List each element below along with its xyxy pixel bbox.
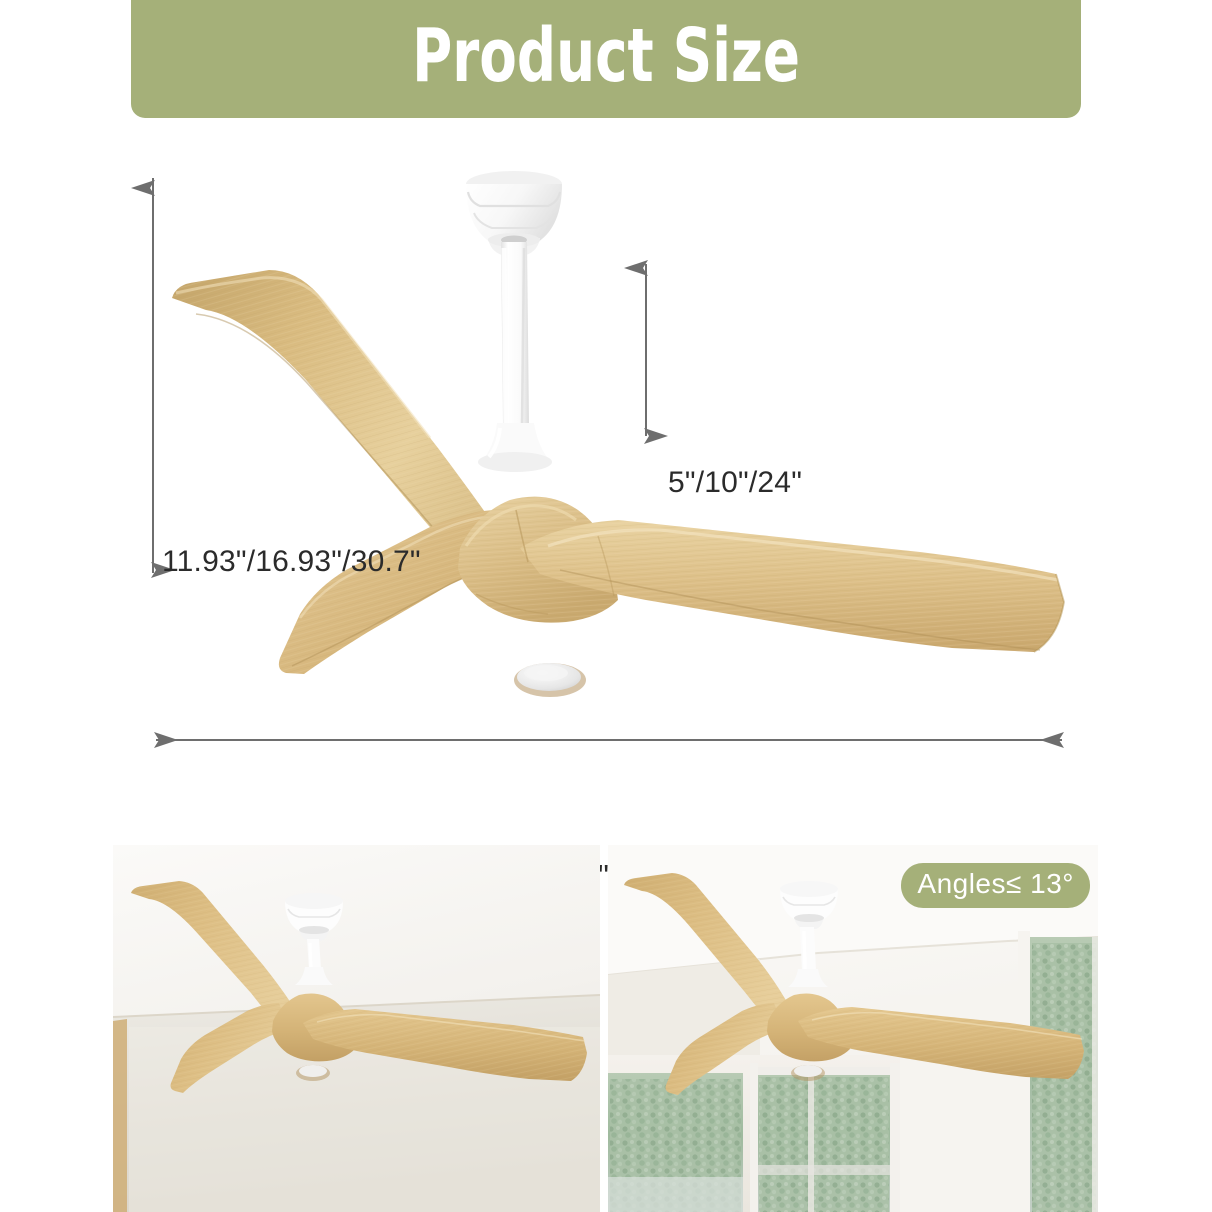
height-dimension-label: 11.93"/16.93"/30.7" [162,545,421,579]
angles-badge: Angles≤ 13° [901,863,1090,908]
downrod [501,242,529,426]
light-lens [514,663,586,697]
motor-housing [478,423,552,472]
ceiling-fan-illustration [0,118,1212,830]
page-title: Product Size [412,19,800,99]
photo-fan-living-room[interactable]: Angles≤ 13° [608,845,1098,1212]
photo-left-scene [113,845,600,1212]
photo-fan-bedroom[interactable] [113,845,600,1212]
lifestyle-photo-row: Angles≤ 13° [0,845,1212,1212]
fan-blade-right [520,520,1064,652]
header-banner: Product Size [131,0,1081,118]
product-size-diagram: 11.93"/16.93"/30.7" 5"/10"/24" 52" [0,118,1212,830]
drop-dimension-label: 5"/10"/24" [668,466,802,500]
